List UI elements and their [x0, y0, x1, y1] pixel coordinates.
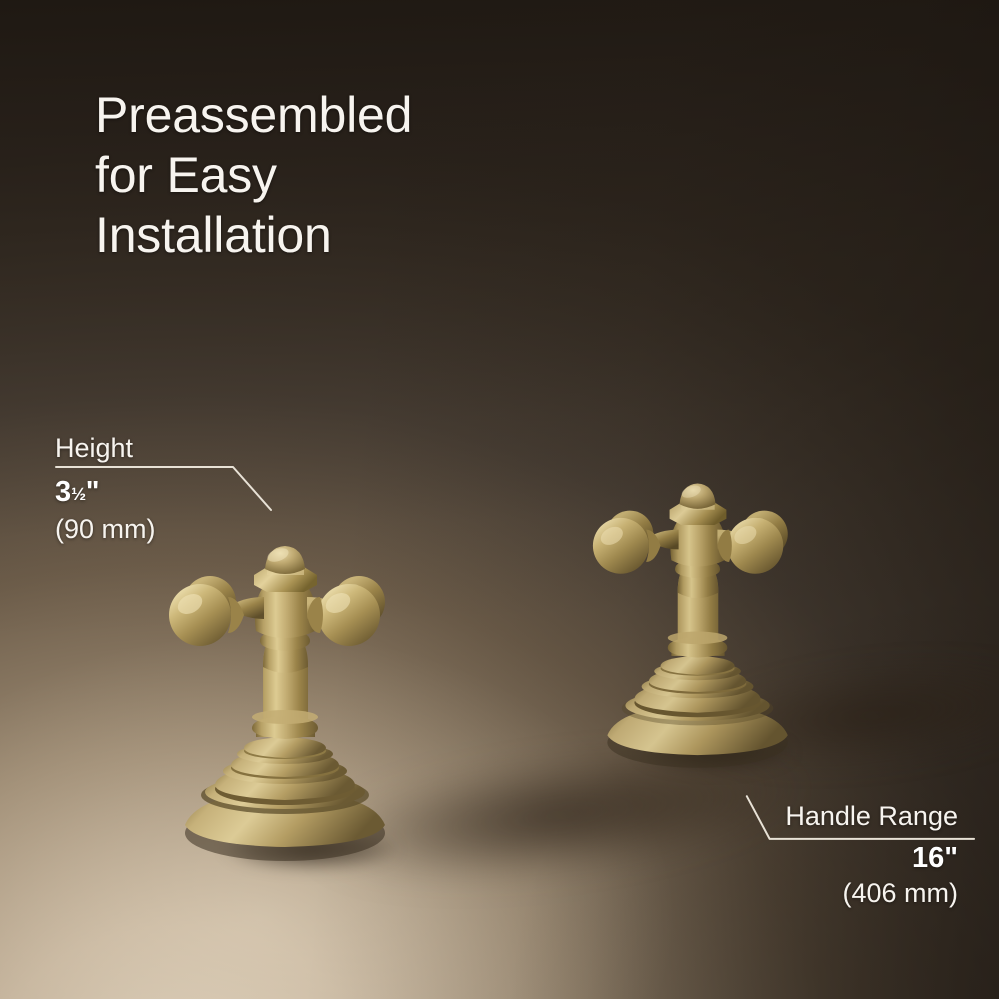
- callout-height: Height 3½" (90 mm): [55, 432, 156, 546]
- callout-handle-range: Handle Range 16" (406 mm): [700, 800, 958, 910]
- callout-height-label: Height: [55, 432, 156, 464]
- callout-handle-range-leader-line: [720, 794, 980, 850]
- callout-height-leader-line: [55, 462, 285, 522]
- left-handle: [168, 545, 403, 865]
- callout-handle-range-metric: (406 mm): [700, 876, 958, 910]
- product-feature-image: Preassembled for Easy Installation: [0, 0, 999, 999]
- page-title: Preassembled for Easy Installation: [95, 85, 615, 265]
- right-handle: [592, 482, 804, 772]
